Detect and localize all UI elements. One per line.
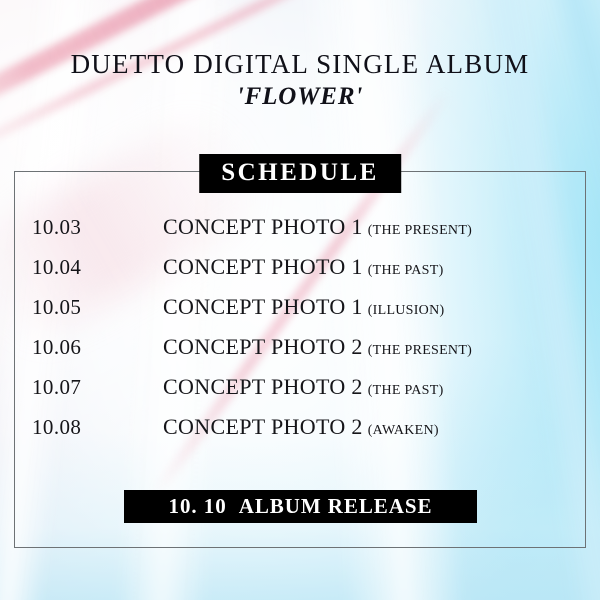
schedule-row-title: CONCEPT PHOTO 2 (163, 334, 363, 360)
schedule-row-note: (THE PAST) (368, 383, 444, 399)
schedule-row-title: CONCEPT PHOTO 2 (163, 414, 363, 440)
schedule-row-note: (ILLUSION) (368, 303, 445, 319)
schedule-row: 10.04 CONCEPT PHOTO 1 (THE PAST) (14, 254, 586, 294)
schedule-row-note: (THE PRESENT) (368, 343, 472, 359)
schedule-row: 10.05 CONCEPT PHOTO 1 (ILLUSION) (14, 294, 586, 334)
album-release-label: ALBUM RELEASE (239, 494, 433, 519)
schedule-row-note: (THE PRESENT) (368, 223, 472, 239)
schedule-row-date: 10.04 (32, 255, 163, 280)
album-release-banner: 10. 10 ALBUM RELEASE (124, 490, 477, 523)
schedule-row-note: (AWAKEN) (368, 423, 439, 439)
schedule-row-title: CONCEPT PHOTO 1 (163, 254, 363, 280)
poster-header: DUETTO DIGITAL SINGLE ALBUM 'FLOWER' (0, 50, 600, 111)
schedule-row: 10.08 CONCEPT PHOTO 2 (AWAKEN) (14, 414, 586, 454)
schedule-row-date: 10.05 (32, 295, 163, 320)
schedule-row: 10.06 CONCEPT PHOTO 2 (THE PRESENT) (14, 334, 586, 374)
schedule-row-date: 10.03 (32, 215, 163, 240)
schedule-row-date: 10.08 (32, 415, 163, 440)
album-name-title: 'FLOWER' (0, 84, 600, 110)
schedule-row-date: 10.07 (32, 375, 163, 400)
schedule-list: 10.03 CONCEPT PHOTO 1 (THE PRESENT) 10.0… (14, 214, 586, 454)
schedule-row: 10.07 CONCEPT PHOTO 2 (THE PAST) (14, 374, 586, 414)
album-type-title: DUETTO DIGITAL SINGLE ALBUM (0, 50, 600, 78)
album-release-date: 10. 10 (169, 494, 227, 519)
schedule-row-date: 10.06 (32, 335, 163, 360)
schedule-row-note: (THE PAST) (368, 263, 444, 279)
schedule-row: 10.03 CONCEPT PHOTO 1 (THE PRESENT) (14, 214, 586, 254)
album-schedule-poster: DUETTO DIGITAL SINGLE ALBUM 'FLOWER' SCH… (0, 0, 600, 600)
schedule-row-title: CONCEPT PHOTO 1 (163, 214, 363, 240)
schedule-row-title: CONCEPT PHOTO 2 (163, 374, 363, 400)
schedule-section-badge: SCHEDULE (199, 154, 401, 193)
schedule-row-title: CONCEPT PHOTO 1 (163, 294, 363, 320)
